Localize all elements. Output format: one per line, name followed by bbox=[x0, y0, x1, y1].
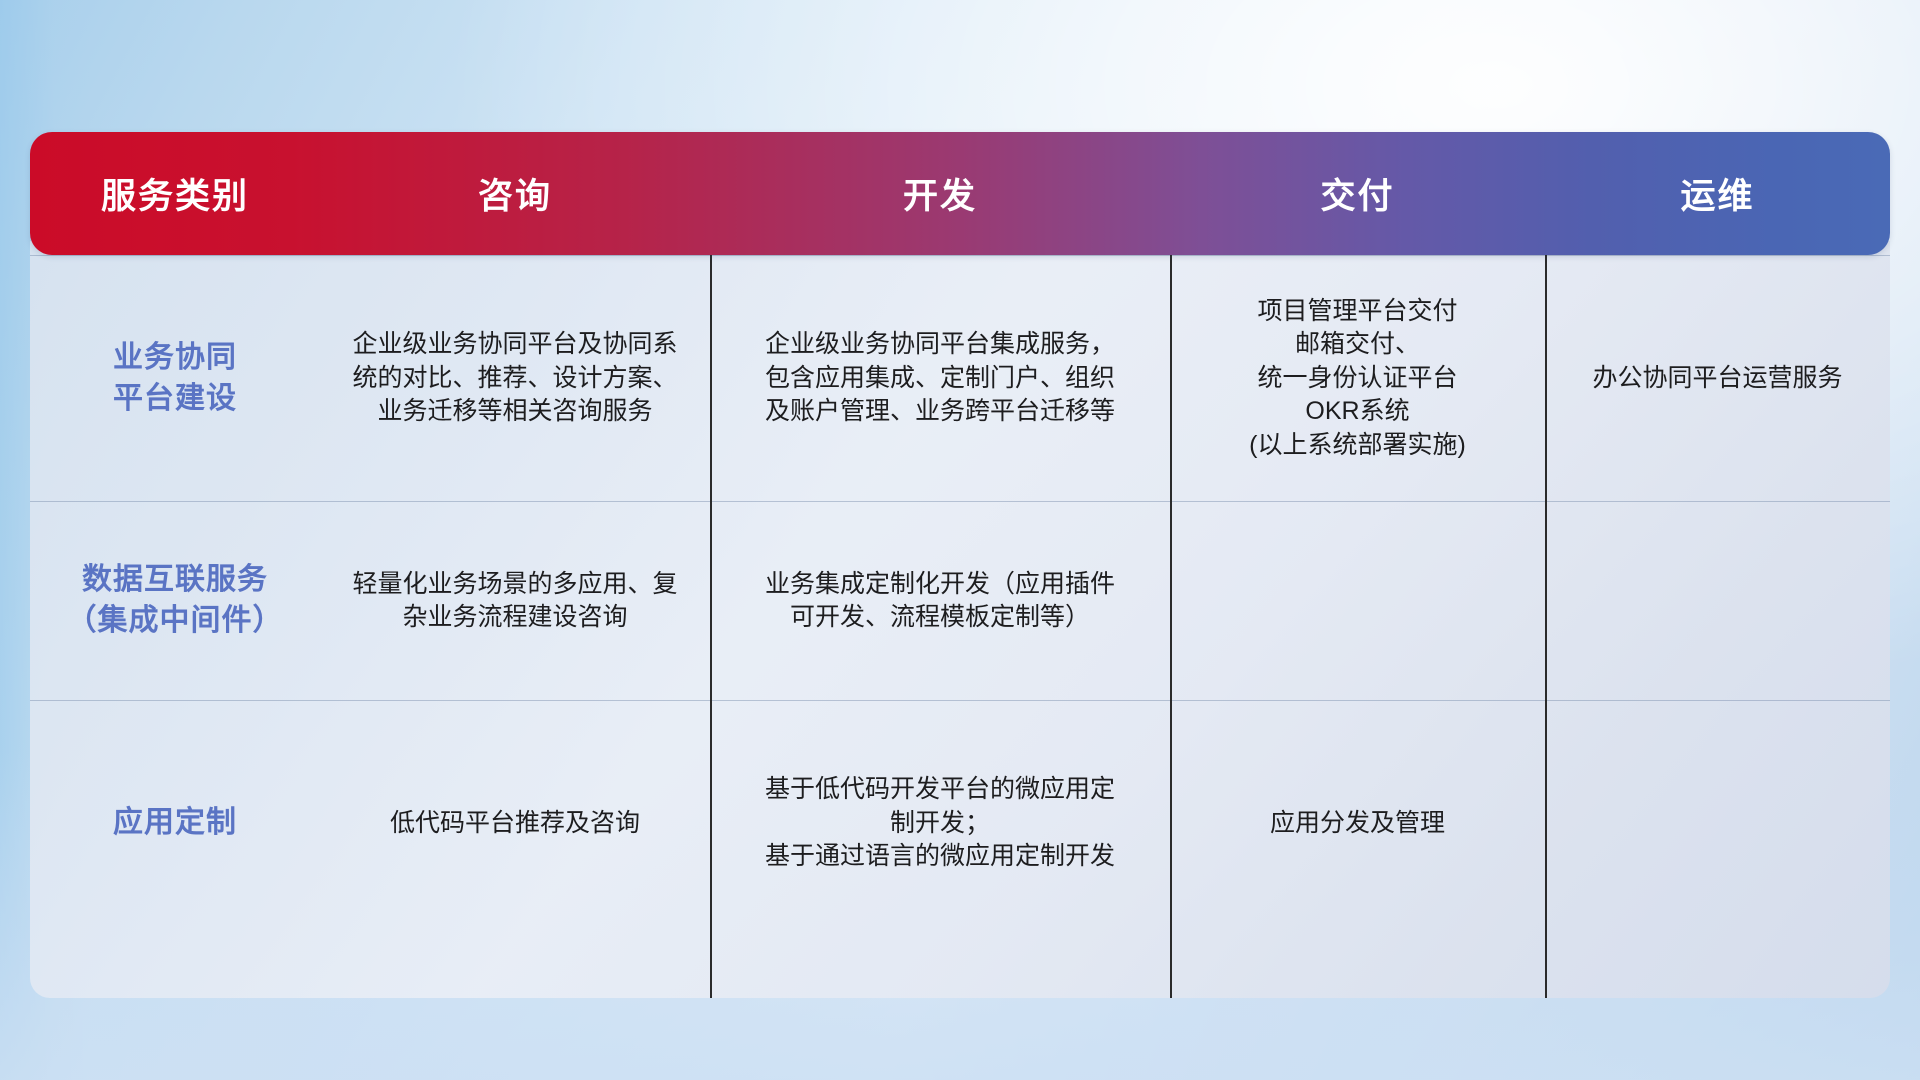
cell-operations-3 bbox=[1545, 701, 1890, 946]
cell-development-3: 基于低代码开发平台的微应用定 制开发； 基于通过语言的微应用定制开发 bbox=[710, 701, 1170, 946]
cell-category-1: 业务协同 平台建设 bbox=[30, 256, 320, 501]
cell-text: 应用定制 bbox=[113, 803, 237, 844]
table-header-row: 服务类别 咨询 开发 交付 运维 bbox=[30, 132, 1890, 255]
cell-text: 业务集成定制化开发（应用插件 可开发、流程模板定制等） bbox=[765, 568, 1115, 635]
cell-operations-1: 办公协同平台运营服务 bbox=[1545, 256, 1890, 501]
column-header-operations: 运维 bbox=[1545, 168, 1890, 219]
cell-consulting-1: 企业级业务协同平台及协同系 统的对比、推荐、设计方案、 业务迁移等相关咨询服务 bbox=[320, 256, 710, 501]
column-header-consulting: 咨询 bbox=[320, 168, 710, 219]
column-header-service-category: 服务类别 bbox=[30, 168, 320, 219]
cell-delivery-3: 应用分发及管理 bbox=[1170, 701, 1545, 946]
table-row: 数据互联服务 （集成中间件） 轻量化业务场景的多应用、复 杂业务流程建设咨询 业… bbox=[30, 501, 1890, 700]
cell-delivery-1: 项目管理平台交付 邮箱交付、 统一身份认证平台 OKR系统 (以上系统部署实施) bbox=[1170, 256, 1545, 501]
cell-text: 数据互联服务 （集成中间件） bbox=[67, 560, 284, 642]
cell-consulting-3: 低代码平台推荐及咨询 bbox=[320, 701, 710, 946]
cell-development-2: 业务集成定制化开发（应用插件 可开发、流程模板定制等） bbox=[710, 502, 1170, 700]
cell-text: 低代码平台推荐及咨询 bbox=[390, 807, 640, 841]
cell-text: 应用分发及管理 bbox=[1270, 807, 1445, 841]
column-header-delivery: 交付 bbox=[1170, 168, 1545, 219]
cell-text: 轻量化业务场景的多应用、复 杂业务流程建设咨询 bbox=[352, 568, 677, 635]
slide-canvas: 服务类别 咨询 开发 交付 运维 业务协同 平台建设 企业级业务协同平台及协同系… bbox=[0, 0, 1920, 1080]
cell-operations-2 bbox=[1545, 502, 1890, 700]
cell-category-3: 应用定制 bbox=[30, 701, 320, 946]
cell-text: 企业级业务协同平台及协同系 统的对比、推荐、设计方案、 业务迁移等相关咨询服务 bbox=[352, 328, 677, 429]
cell-text: 基于低代码开发平台的微应用定 制开发； 基于通过语言的微应用定制开发 bbox=[765, 773, 1115, 874]
cell-category-2: 数据互联服务 （集成中间件） bbox=[30, 502, 320, 700]
cell-delivery-2 bbox=[1170, 502, 1545, 700]
cell-text: 项目管理平台交付 邮箱交付、 统一身份认证平台 OKR系统 (以上系统部署实施) bbox=[1249, 295, 1466, 463]
table-bottom-padding bbox=[30, 946, 1890, 998]
table-row: 应用定制 低代码平台推荐及咨询 基于低代码开发平台的微应用定 制开发； 基于通过… bbox=[30, 700, 1890, 946]
service-matrix-table: 服务类别 咨询 开发 交付 运维 业务协同 平台建设 企业级业务协同平台及协同系… bbox=[30, 132, 1890, 998]
cell-text: 业务协同 平台建设 bbox=[113, 338, 237, 420]
table-body: 业务协同 平台建设 企业级业务协同平台及协同系 统的对比、推荐、设计方案、 业务… bbox=[30, 241, 1890, 998]
column-header-development: 开发 bbox=[710, 168, 1170, 219]
table-row: 业务协同 平台建设 企业级业务协同平台及协同系 统的对比、推荐、设计方案、 业务… bbox=[30, 255, 1890, 501]
cell-consulting-2: 轻量化业务场景的多应用、复 杂业务流程建设咨询 bbox=[320, 502, 710, 700]
cell-text: 企业级业务协同平台集成服务， 包含应用集成、定制门户、组织 及账户管理、业务跨平… bbox=[765, 328, 1115, 429]
cell-development-1: 企业级业务协同平台集成服务， 包含应用集成、定制门户、组织 及账户管理、业务跨平… bbox=[710, 256, 1170, 501]
cell-text: 办公协同平台运营服务 bbox=[1592, 362, 1842, 396]
